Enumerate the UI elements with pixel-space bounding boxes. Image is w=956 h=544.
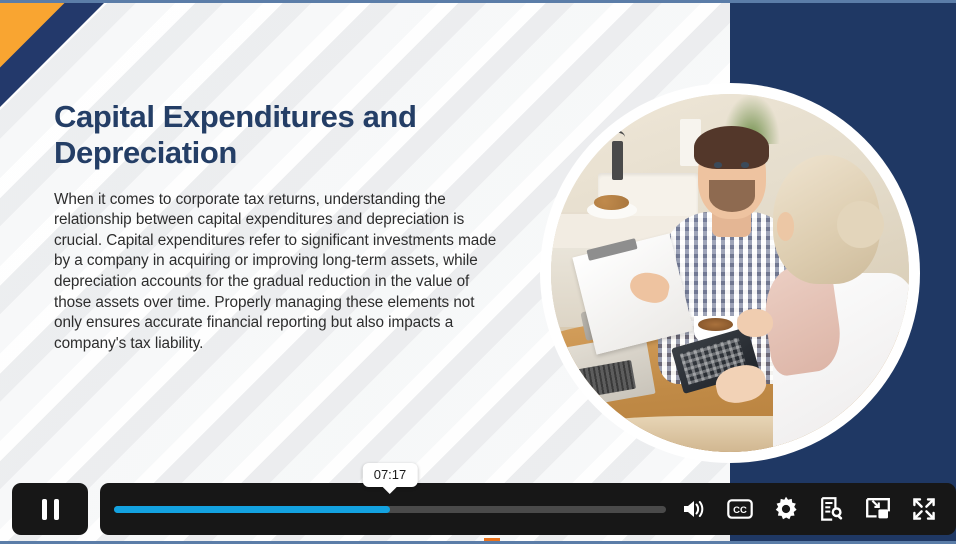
photo-man-hair (694, 126, 769, 169)
course-player: Capital Expenditures and Depreciation Wh… (0, 0, 956, 544)
pause-icon-bar-right (54, 499, 59, 520)
slide-canvas: Capital Expenditures and Depreciation Wh… (0, 3, 956, 541)
progress-fill (114, 506, 390, 513)
progress-scrubber[interactable]: 07:17 (114, 500, 666, 518)
photo-man-beard (709, 180, 756, 212)
slide-text-column: Capital Expenditures and Depreciation Wh… (54, 99, 506, 355)
volume-icon[interactable] (680, 495, 708, 523)
photo-man-eye-right (741, 162, 750, 168)
player-control-bar: 07:17 CC (0, 477, 956, 541)
slide-photo (551, 94, 909, 452)
photo-woman-face (777, 212, 795, 241)
pause-icon-bar-left (42, 499, 47, 520)
photo-man-eye-left (714, 162, 723, 168)
player-icon-group: CC (666, 495, 956, 523)
page-title: Capital Expenditures and Depreciation (54, 99, 506, 172)
gear-icon[interactable] (772, 495, 800, 523)
svg-text:CC: CC (733, 505, 747, 516)
pause-button[interactable] (12, 483, 88, 535)
picture-in-picture-icon[interactable] (864, 495, 892, 523)
transcript-search-icon[interactable] (818, 495, 846, 523)
photo-faucet (612, 141, 623, 180)
time-tooltip: 07:17 (363, 463, 418, 487)
fullscreen-icon[interactable] (910, 495, 938, 523)
photo-woman-bun (837, 201, 884, 248)
slide-photo-circle (540, 83, 920, 463)
photo-woman-hand (737, 309, 773, 338)
slide-body-text: When it comes to corporate tax returns, … (54, 190, 506, 355)
timeline-chapter-marker[interactable] (484, 538, 500, 541)
player-controls-panel: 07:17 CC (100, 483, 956, 535)
closed-captions-icon[interactable]: CC (726, 495, 754, 523)
progress-track[interactable]: 07:17 (114, 506, 666, 513)
